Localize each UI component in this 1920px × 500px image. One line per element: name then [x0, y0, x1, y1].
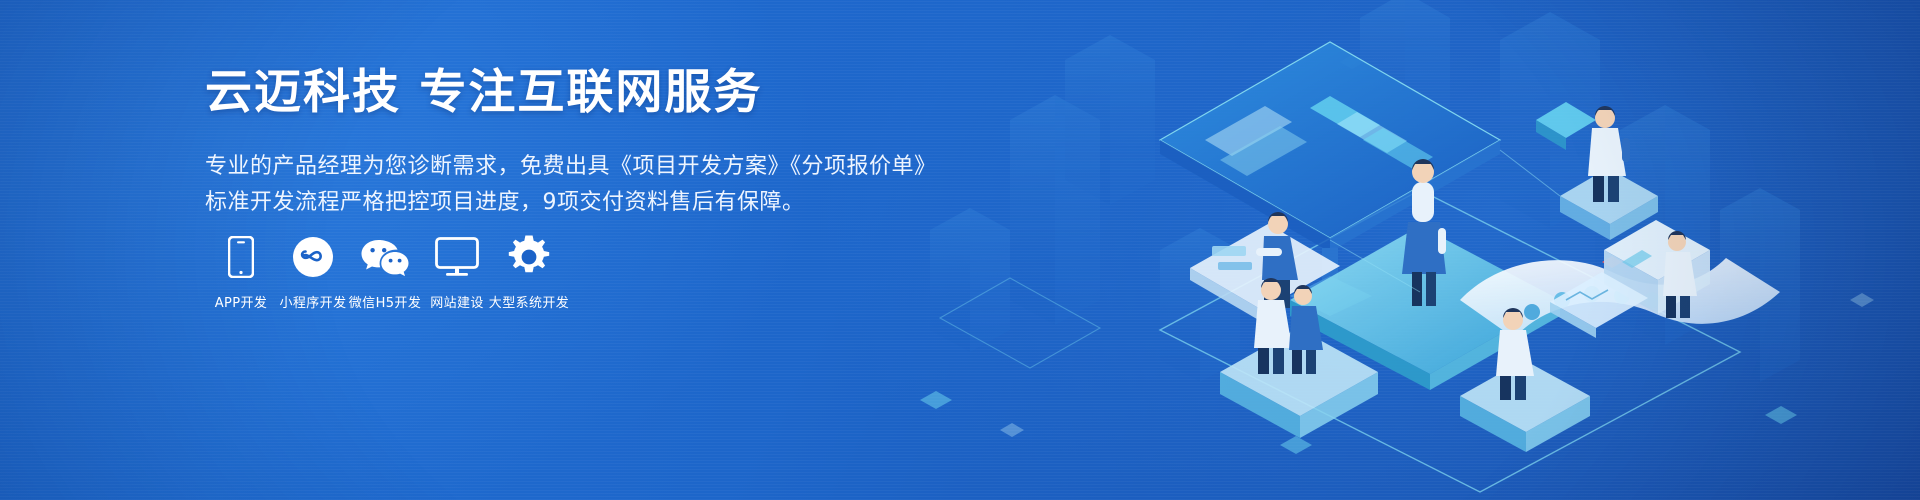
- hero-subtitle: 专业的产品经理为您诊断需求，免费出具《项目开发方案》《分项报价单》 标准开发流程…: [205, 149, 1105, 221]
- service-label-wechat-h5: 微信H5开发: [349, 292, 421, 311]
- mini-program-icon: [292, 234, 334, 280]
- gear-icon: [507, 234, 551, 280]
- service-label-app: APP开发: [215, 292, 268, 311]
- service-label-miniprogram: 小程序开发: [279, 292, 346, 311]
- wechat-icon: [360, 234, 410, 280]
- service-item-wechat-h5[interactable]: 微信H5开发: [349, 234, 421, 311]
- hero-banner: 云迈科技 专注互联网服务 专业的产品经理为您诊断需求，免费出具《项目开发方案》《…: [0, 0, 1920, 500]
- hero-copy: 云迈科技 专注互联网服务 专业的产品经理为您诊断需求，免费出具《项目开发方案》《…: [205, 62, 1105, 221]
- service-item-miniprogram[interactable]: 小程序开发: [277, 234, 349, 311]
- page-title: 云迈科技 专注互联网服务: [205, 62, 1105, 124]
- monitor-icon: [435, 234, 479, 280]
- service-item-website[interactable]: 网站建设: [421, 234, 493, 311]
- service-label-large-system: 大型系统开发: [489, 292, 569, 311]
- subtitle-line-2: 标准开发流程严格把控项目进度，9项交付资料售后有保障。: [205, 185, 1105, 221]
- service-item-large-system[interactable]: 大型系统开发: [493, 234, 565, 311]
- mobile-phone-icon: [228, 234, 254, 280]
- service-item-app[interactable]: APP开发: [205, 234, 277, 311]
- service-label-website: 网站建设: [430, 292, 484, 311]
- subtitle-line-1: 专业的产品经理为您诊断需求，免费出具《项目开发方案》《分项报价单》: [205, 149, 1105, 185]
- service-list: APP开发 小程序开发 微信: [205, 234, 565, 311]
